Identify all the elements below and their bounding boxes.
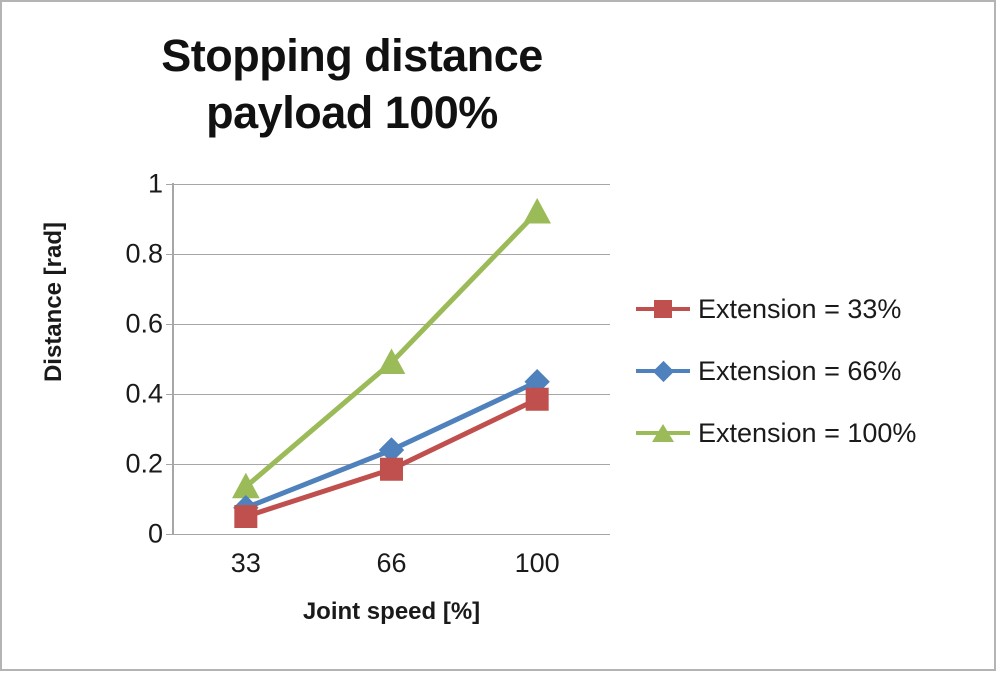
plot-area	[173, 184, 610, 534]
chart-title-line-1: Stopping distance	[2, 28, 702, 85]
chart-title-line-2: payload 100%	[2, 85, 702, 142]
y-axis-tick-label: 1	[73, 169, 163, 200]
data-point-marker	[381, 458, 403, 480]
chart-legend: Extension = 33%Extension = 66%Extension …	[636, 278, 986, 464]
legend-swatch-triangle-icon	[636, 420, 690, 446]
y-axis-tickmark	[166, 534, 173, 535]
legend-item[interactable]: Extension = 66%	[636, 340, 986, 402]
gridline	[173, 534, 610, 535]
x-axis-title: Joint speed [%]	[173, 598, 610, 626]
y-axis-tickmark	[166, 464, 173, 465]
chart-frame: Stopping distance payload 100% Distance …	[0, 0, 996, 671]
y-axis-tick-label: 0.6	[73, 309, 163, 340]
x-axis-tick-labels: 3366100	[173, 548, 610, 588]
legend-marker-icon	[652, 360, 673, 381]
legend-label: Extension = 100%	[698, 418, 916, 449]
y-axis-tick-label: 0	[73, 519, 163, 550]
y-axis-tick-label: 0.2	[73, 449, 163, 480]
legend-swatch-square-icon	[636, 296, 690, 322]
y-axis-tick-label: 0.4	[73, 379, 163, 410]
legend-label: Extension = 33%	[698, 294, 901, 325]
y-axis-tickmark	[166, 394, 173, 395]
legend-marker-icon	[654, 300, 672, 318]
data-point-marker	[526, 388, 548, 410]
x-axis-tick-label: 33	[186, 548, 306, 579]
y-axis-tick-labels: 00.20.40.60.81	[63, 184, 163, 534]
y-axis-tickmark	[166, 254, 173, 255]
legend-label: Extension = 66%	[698, 356, 901, 387]
y-axis-tick-label: 0.8	[73, 239, 163, 270]
x-axis-tick-label: 100	[477, 548, 597, 579]
series-plot	[173, 184, 610, 534]
legend-item[interactable]: Extension = 100%	[636, 402, 986, 464]
data-point-marker	[235, 506, 257, 528]
y-axis-tickmark	[166, 184, 173, 185]
chart-title: Stopping distance payload 100%	[2, 28, 702, 141]
y-axis-tickmark	[166, 324, 173, 325]
data-point-marker	[524, 199, 550, 223]
legend-item[interactable]: Extension = 33%	[636, 278, 986, 340]
x-axis-tick-label: 66	[332, 548, 452, 579]
legend-swatch-diamond-icon	[636, 358, 690, 384]
legend-marker-icon	[652, 424, 674, 442]
